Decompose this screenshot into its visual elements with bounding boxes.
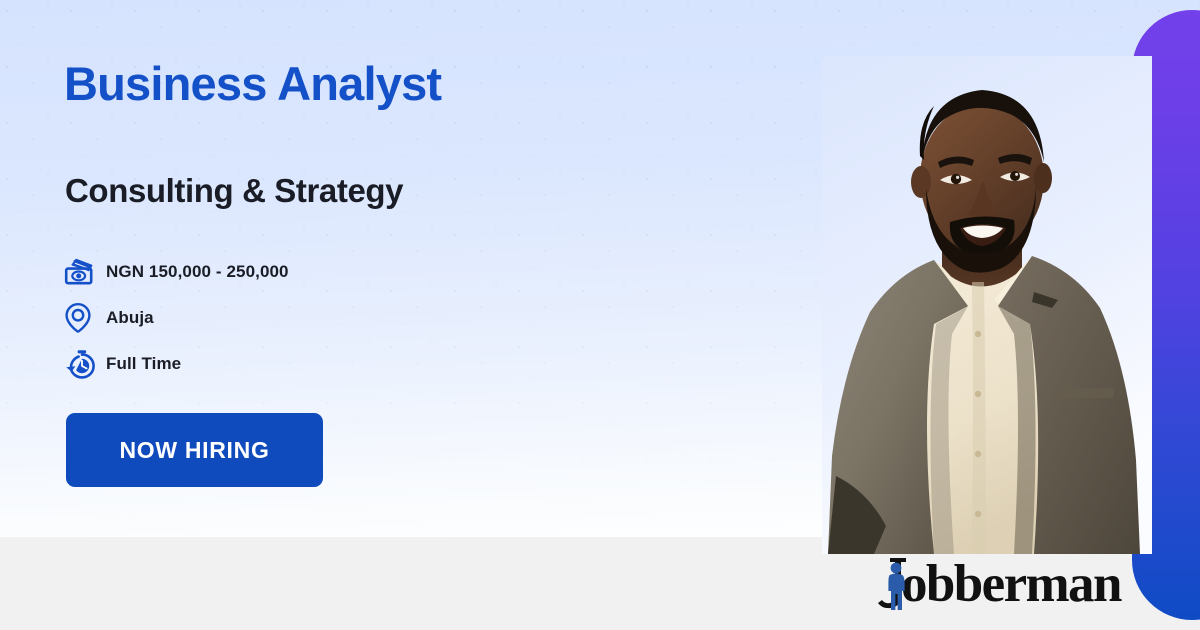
money-icon: [64, 258, 106, 286]
job-category: Consulting & Strategy: [65, 172, 403, 210]
stopwatch-icon: [64, 349, 106, 379]
job-meta-list: NGN 150,000 - 250,000 Abuja: [64, 249, 289, 387]
jobberman-wordmark: obberman: [901, 558, 1121, 611]
meta-row-location: Abuja: [64, 295, 289, 341]
jobberman-logo: obberman: [876, 556, 1121, 612]
candidate-photo: [822, 56, 1152, 554]
meta-label-location: Abuja: [106, 308, 154, 328]
location-icon: [64, 302, 106, 334]
job-advert-banner: Business Analyst Consulting & Strategy N…: [0, 0, 1200, 630]
meta-label-employment-type: Full Time: [106, 354, 181, 374]
meta-row-salary: NGN 150,000 - 250,000: [64, 249, 289, 295]
job-details-column: Business Analyst Consulting & Strategy N…: [64, 0, 764, 537]
job-title: Business Analyst: [64, 58, 441, 110]
now-hiring-button[interactable]: NOW HIRING: [66, 413, 323, 487]
jobberman-person-icon: [876, 556, 918, 612]
meta-label-salary: NGN 150,000 - 250,000: [106, 262, 289, 282]
meta-row-employment-type: Full Time: [64, 341, 289, 387]
